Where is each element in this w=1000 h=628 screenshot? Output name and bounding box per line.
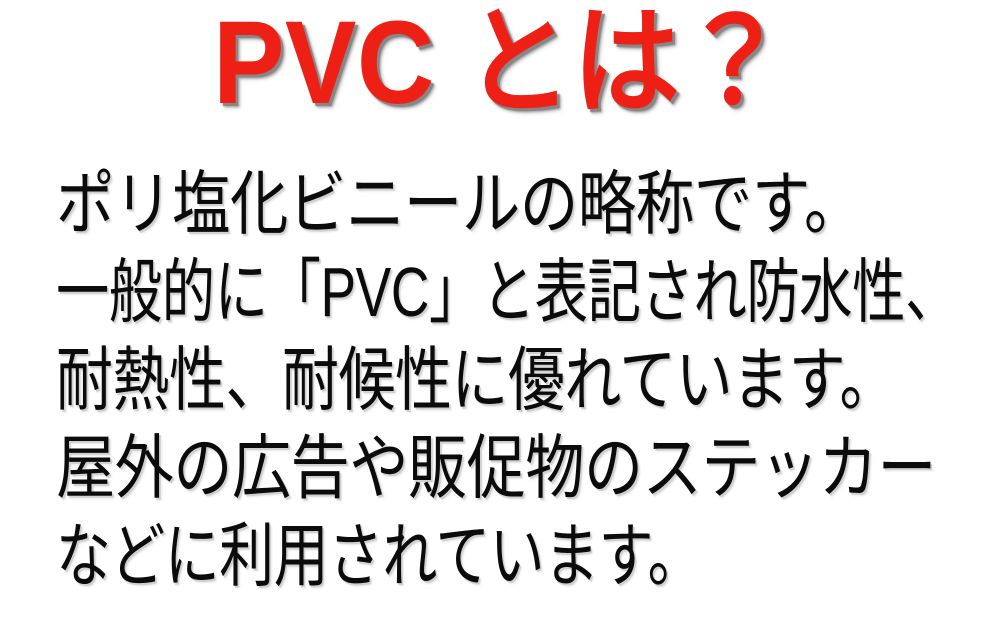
slide-canvas: PVC とは？ ポリ塩化ビニールの略称です。 一般的に「PVC」と表記され防水性… (0, 0, 1000, 628)
body-line-5: などに利用されています。 (56, 512, 795, 600)
slide-title: PVC とは？ (0, 4, 1000, 122)
body-line-4: 屋外の広告や販促物のステッカー (56, 424, 853, 512)
slide-title-text: PVC とは？ (212, 4, 787, 122)
slide-body: ポリ塩化ビニールの略称です。 一般的に「PVC」と表記され防水性、 耐熱性、耐候… (56, 160, 1000, 600)
body-line-2: 一般的に「PVC」と表記され防水性、 (56, 248, 775, 336)
body-line-1: ポリ塩化ビニールの略称です。 (56, 160, 844, 248)
body-line-3: 耐熱性、耐候性に優れています。 (56, 336, 823, 424)
